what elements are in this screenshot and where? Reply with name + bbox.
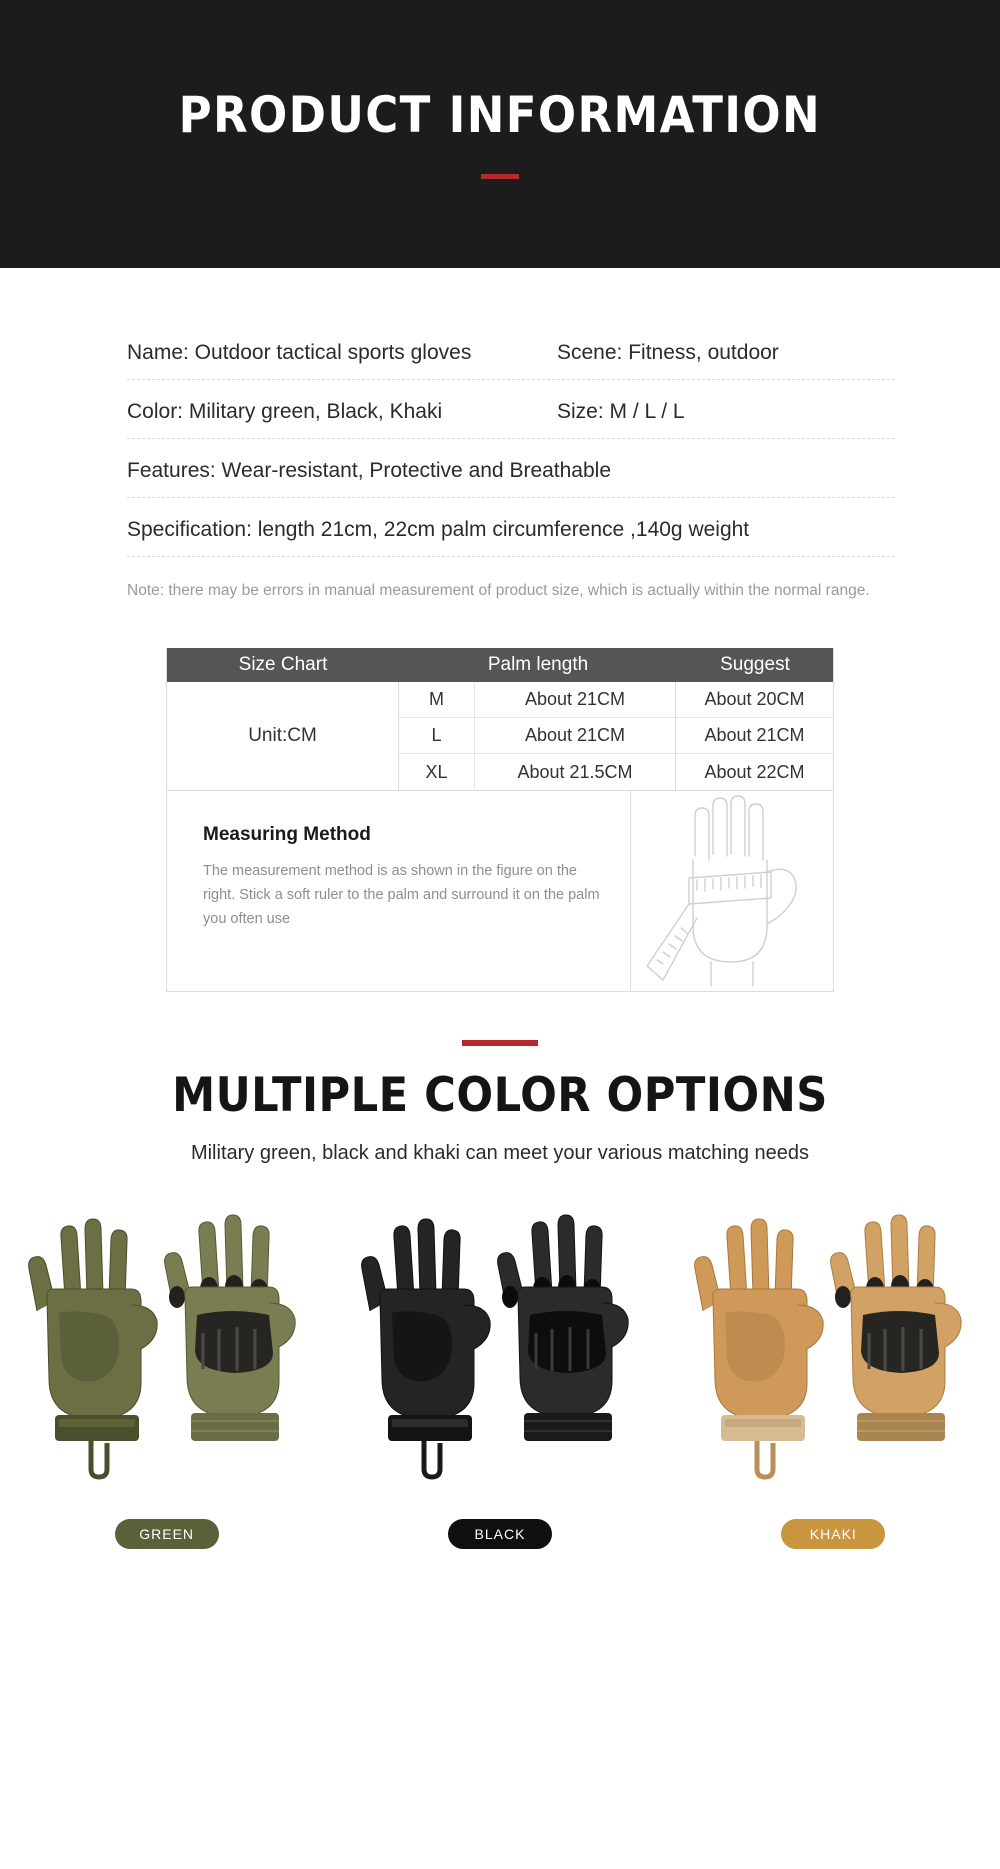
hand-measure-figure (631, 791, 833, 991)
spec-row: Color: Military green, Black, Khaki Size… (127, 380, 895, 439)
spec-color: Color: Military green, Black, Khaki (127, 400, 557, 438)
row-suggest: About 22CM (676, 754, 833, 790)
header-palm-length: Palm length (399, 654, 677, 676)
glove-pair-khaki-image (673, 1193, 993, 1493)
page-title: PRODUCT INFORMATION (179, 90, 821, 140)
row-suggest: About 20CM (676, 682, 833, 717)
color-badge-row: GREEN BLACK KHAKI (0, 1519, 1000, 1549)
color-gallery (0, 1193, 1000, 1493)
color-badge-khaki[interactable]: KHAKI (781, 1519, 885, 1549)
specification-list: Name: Outdoor tactical sports gloves Sce… (105, 321, 895, 557)
row-size: L (399, 718, 475, 753)
product-image-khaki[interactable] (667, 1193, 1000, 1493)
color-badge-black-label: BLACK (475, 1526, 526, 1542)
table-row: M About 21CM About 20CM (399, 682, 833, 718)
spec-row: Specification: length 21cm, 22cm palm ci… (127, 498, 895, 557)
hand-with-tape-measure-icon (637, 794, 827, 989)
row-palm: About 21CM (475, 682, 676, 717)
measurement-note: Note: there may be errors in manual meas… (105, 579, 895, 603)
hero-banner: PRODUCT INFORMATION (0, 0, 1000, 268)
spec-name: Name: Outdoor tactical sports gloves (127, 341, 557, 379)
product-image-green[interactable] (0, 1193, 333, 1493)
row-palm: About 21CM (475, 718, 676, 753)
table-row: XL About 21.5CM About 22CM (399, 754, 833, 790)
spec-size: Size: M / L / L (557, 400, 895, 438)
unit-label: Unit:CM (167, 682, 399, 790)
glove-pair-black-image (340, 1193, 660, 1493)
row-size: M (399, 682, 475, 717)
section-accent-rule (462, 1040, 538, 1046)
glove-pair-green-image (7, 1193, 327, 1493)
measuring-method-title: Measuring Method (203, 824, 600, 846)
hero-accent-rule (481, 174, 519, 179)
color-badge-black[interactable]: BLACK (448, 1519, 552, 1549)
row-size: XL (399, 754, 475, 790)
color-options-subtitle: Military green, black and khaki can meet… (0, 1142, 1000, 1165)
spec-specification: Specification: length 21cm, 22cm palm ci… (127, 518, 895, 556)
spec-row: Features: Wear-resistant, Protective and… (127, 439, 895, 498)
size-chart-body: Unit:CM M About 21CM About 20CM L About … (167, 682, 833, 790)
measuring-method-body: The measurement method is as shown in th… (203, 860, 600, 932)
color-options-title: MULTIPLE COLOR OPTIONS (40, 1068, 960, 1123)
spec-row: Name: Outdoor tactical sports gloves Sce… (127, 321, 895, 380)
spec-scene: Scene: Fitness, outdoor (557, 341, 895, 379)
color-badge-khaki-label: KHAKI (810, 1526, 857, 1542)
size-chart-table: Size Chart Palm length Suggest Unit:CM M… (166, 648, 834, 992)
size-chart-header-row: Size Chart Palm length Suggest (167, 648, 833, 682)
spec-features: Features: Wear-resistant, Protective and… (127, 459, 895, 497)
color-badge-green-label: GREEN (139, 1526, 194, 1542)
measuring-method-section: Measuring Method The measurement method … (167, 790, 833, 991)
header-suggest: Suggest (677, 654, 833, 676)
product-image-black[interactable] (333, 1193, 666, 1493)
table-row: L About 21CM About 21CM (399, 718, 833, 754)
row-suggest: About 21CM (676, 718, 833, 753)
color-badge-green[interactable]: GREEN (115, 1519, 219, 1549)
row-palm: About 21.5CM (475, 754, 676, 790)
header-size-chart: Size Chart (167, 654, 399, 676)
